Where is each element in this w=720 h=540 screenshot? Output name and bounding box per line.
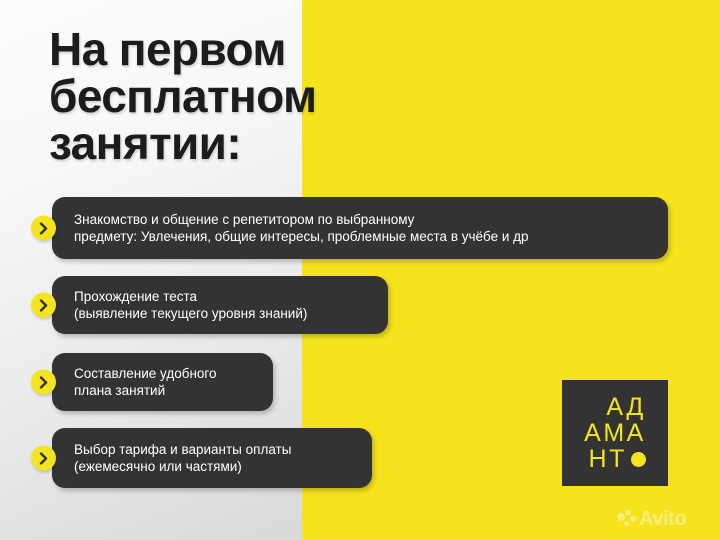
avito-dots-icon xyxy=(617,510,636,529)
avito-wordmark: Avito xyxy=(639,509,686,529)
list-item-label: Знакомство и общение с репетитором по вы… xyxy=(74,211,529,245)
promo-canvas: На первом бесплатном занятии: Знакомство… xyxy=(0,0,720,540)
logo-line-3: НТ xyxy=(589,447,646,472)
list-item-label: Прохождение теста (выявление текущего ур… xyxy=(74,288,307,322)
list-item-label: Выбор тарифа и варианты оплаты (ежемесяч… xyxy=(74,441,291,475)
list-item-label: Составление удобного плана занятий xyxy=(74,365,217,399)
adamant-logo: АД АМА НТ xyxy=(562,380,668,486)
list-item: Прохождение теста (выявление текущего ур… xyxy=(52,276,388,334)
logo-line-3-text: НТ xyxy=(589,447,627,472)
list-item: Составление удобного плана занятий xyxy=(52,353,273,411)
logo-line-2: АМА xyxy=(584,421,646,446)
logo-line-1: АД xyxy=(606,395,645,420)
list-item: Знакомство и общение с репетитором по вы… xyxy=(52,197,668,259)
logo-dot-icon xyxy=(631,452,646,467)
chevron-right-icon xyxy=(31,370,56,395)
chevron-right-icon xyxy=(31,216,56,241)
avito-watermark: Avito xyxy=(617,509,686,529)
chevron-right-icon xyxy=(31,293,56,318)
list-item: Выбор тарифа и варианты оплаты (ежемесяч… xyxy=(52,428,372,488)
chevron-right-icon xyxy=(31,446,56,471)
logo-inner: АД АМА НТ xyxy=(584,395,646,472)
